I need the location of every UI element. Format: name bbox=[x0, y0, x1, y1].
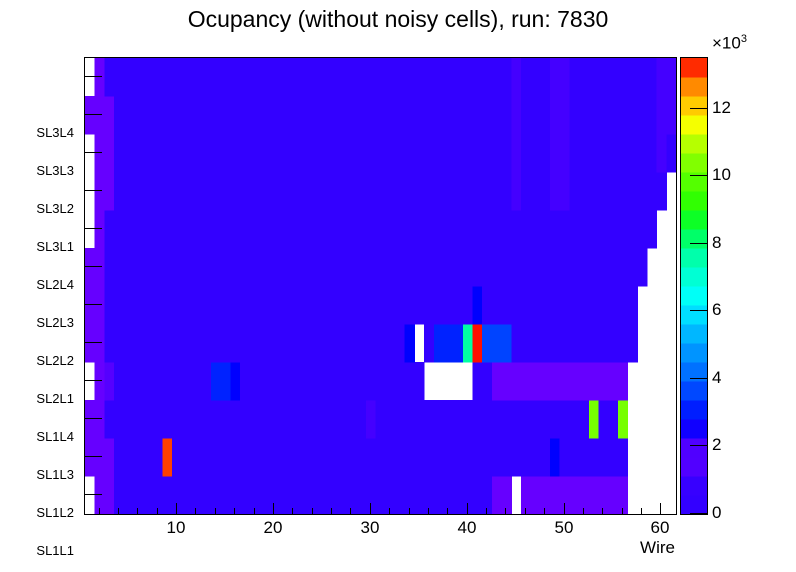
heatmap-cell bbox=[250, 286, 260, 325]
heatmap-cell bbox=[124, 438, 134, 477]
heatmap-cell bbox=[211, 438, 221, 477]
heatmap-cell bbox=[550, 476, 560, 514]
heatmap-cell bbox=[221, 248, 231, 287]
heatmap-cell bbox=[637, 172, 647, 211]
heatmap-cell bbox=[376, 210, 386, 249]
heatmap-cell bbox=[521, 134, 531, 173]
heatmap-cell bbox=[463, 96, 473, 135]
color-scale-band bbox=[681, 381, 707, 401]
heatmap-cell bbox=[434, 324, 444, 363]
heatmap-cell bbox=[560, 134, 570, 173]
color-scale-band bbox=[681, 134, 707, 154]
heatmap-cell bbox=[366, 438, 376, 477]
heatmap-cell bbox=[376, 286, 386, 325]
heatmap-cell bbox=[366, 172, 376, 211]
y-tick-mark bbox=[85, 494, 102, 495]
heatmap-cell bbox=[395, 286, 405, 325]
heatmap-cell bbox=[240, 476, 250, 514]
y-tick-mark bbox=[85, 152, 102, 153]
heatmap-cell bbox=[540, 172, 550, 211]
heatmap-cell bbox=[395, 324, 405, 363]
heatmap-cell bbox=[424, 286, 434, 325]
heatmap-cell bbox=[511, 134, 521, 173]
heatmap-cell bbox=[182, 362, 192, 401]
heatmap-cell bbox=[618, 172, 628, 211]
heatmap-cell bbox=[637, 96, 647, 135]
heatmap-cell bbox=[453, 210, 463, 249]
heatmap-cell bbox=[153, 286, 163, 325]
heatmap-cell bbox=[182, 58, 192, 97]
heatmap-cell bbox=[560, 438, 570, 477]
heatmap-cell bbox=[182, 172, 192, 211]
heatmap-cell bbox=[269, 134, 279, 173]
heatmap-cell bbox=[308, 438, 318, 477]
heatmap-cell bbox=[521, 172, 531, 211]
heatmap-cell bbox=[511, 324, 521, 363]
heatmap-cell bbox=[628, 172, 638, 211]
heatmap-cell bbox=[172, 362, 182, 401]
heatmap-cell bbox=[259, 400, 269, 439]
heatmap-cell bbox=[259, 58, 269, 97]
heatmap-cell bbox=[230, 438, 240, 477]
heatmap-cell bbox=[288, 172, 298, 211]
heatmap-cell bbox=[473, 438, 483, 477]
heatmap-cell bbox=[192, 58, 202, 97]
heatmap-cell bbox=[618, 476, 628, 514]
heatmap-cell bbox=[288, 248, 298, 287]
heatmap-cell bbox=[288, 58, 298, 97]
heatmap-cell bbox=[443, 96, 453, 135]
heatmap-cell bbox=[482, 362, 492, 401]
heatmap-cell bbox=[318, 58, 328, 97]
heatmap-cell bbox=[95, 438, 105, 477]
heatmap-cell bbox=[608, 210, 618, 249]
heatmap-cell bbox=[502, 286, 512, 325]
heatmap-cell bbox=[569, 58, 579, 97]
heatmap-cell bbox=[172, 476, 182, 514]
heatmap-cell bbox=[473, 248, 483, 287]
heatmap-cell bbox=[569, 476, 579, 514]
heatmap-cell bbox=[492, 58, 502, 97]
heatmap-cell bbox=[124, 58, 134, 97]
heatmap-cell bbox=[550, 134, 560, 173]
heatmap-cell bbox=[143, 58, 153, 97]
heatmap-cell bbox=[279, 286, 289, 325]
heatmap-cell bbox=[473, 210, 483, 249]
heatmap-cell bbox=[579, 172, 589, 211]
heatmap-cell bbox=[337, 362, 347, 401]
heatmap-cell bbox=[182, 438, 192, 477]
x-tick-minor bbox=[641, 508, 642, 514]
heatmap-cell bbox=[424, 324, 434, 363]
heatmap-cell bbox=[482, 400, 492, 439]
heatmap-cell bbox=[637, 134, 647, 173]
heatmap-cell bbox=[298, 248, 308, 287]
color-scale-band bbox=[681, 343, 707, 363]
y-tick-mark bbox=[85, 190, 102, 191]
color-scale-band bbox=[681, 419, 707, 439]
heatmap-cell bbox=[540, 324, 550, 363]
heatmap-cell bbox=[259, 286, 269, 325]
heatmap-cell bbox=[521, 476, 531, 514]
heatmap-cell bbox=[405, 96, 415, 135]
heatmap-cell bbox=[550, 210, 560, 249]
x-tick-major bbox=[660, 503, 661, 514]
heatmap-cell bbox=[298, 172, 308, 211]
heatmap-cell bbox=[240, 362, 250, 401]
heatmap-cell bbox=[463, 248, 473, 287]
heatmap-cell bbox=[598, 210, 608, 249]
heatmap-cell bbox=[414, 134, 424, 173]
heatmap-cell bbox=[288, 134, 298, 173]
heatmap-cell bbox=[405, 438, 415, 477]
heatmap-cell bbox=[153, 172, 163, 211]
color-scale-tick-mark bbox=[690, 175, 707, 176]
heatmap-cell bbox=[221, 172, 231, 211]
heatmap-cell bbox=[230, 248, 240, 287]
color-scale-band bbox=[681, 153, 707, 173]
heatmap-cell bbox=[288, 400, 298, 439]
heatmap-cell bbox=[250, 362, 260, 401]
heatmap-cell bbox=[521, 210, 531, 249]
heatmap-cell bbox=[540, 210, 550, 249]
heatmap-cell bbox=[618, 286, 628, 325]
heatmap-cell bbox=[618, 134, 628, 173]
color-scale-bar[interactable] bbox=[680, 57, 708, 515]
heatmap-cell bbox=[153, 134, 163, 173]
heatmap-cell bbox=[337, 438, 347, 477]
heatmap-cell bbox=[288, 324, 298, 363]
x-tick-minor bbox=[254, 508, 255, 514]
heatmap-cell bbox=[492, 362, 502, 401]
heatmap-cell bbox=[443, 438, 453, 477]
heatmap-cell bbox=[172, 210, 182, 249]
heatmap-cell bbox=[473, 324, 483, 363]
heatmap-cell bbox=[133, 438, 143, 477]
heatmap-cell bbox=[385, 58, 395, 97]
heatmap-cell bbox=[579, 210, 589, 249]
x-tick-minor bbox=[428, 508, 429, 514]
heatmap-cell bbox=[104, 362, 114, 401]
heatmap-cell bbox=[463, 134, 473, 173]
heatmap-cell bbox=[250, 248, 260, 287]
heatmap-cell bbox=[201, 362, 211, 401]
y-tick-label: SL3L3 bbox=[36, 163, 74, 178]
heatmap-cell bbox=[647, 134, 657, 173]
color-scale-tick-mark bbox=[690, 378, 707, 379]
heatmap-cell bbox=[502, 248, 512, 287]
heatmap-cell bbox=[628, 324, 638, 363]
heatmap-cell bbox=[327, 476, 337, 514]
heatmap-cell bbox=[163, 134, 173, 173]
heatmap-cell bbox=[133, 96, 143, 135]
heatmap-cell bbox=[356, 96, 366, 135]
heatmap-cell bbox=[511, 438, 521, 477]
heatmap-cell bbox=[405, 400, 415, 439]
heatmap-cell bbox=[531, 210, 541, 249]
heatmap-cell bbox=[279, 324, 289, 363]
heatmap-cell bbox=[298, 400, 308, 439]
heatmap-cell bbox=[240, 248, 250, 287]
heatmap-cell bbox=[579, 324, 589, 363]
heatmap-cell bbox=[569, 134, 579, 173]
heatmap-cell bbox=[492, 286, 502, 325]
heatmap-cell bbox=[211, 58, 221, 97]
color-scale-band bbox=[681, 191, 707, 211]
heatmap-cell bbox=[153, 362, 163, 401]
heatmap-cell bbox=[279, 400, 289, 439]
heatmap-cell bbox=[211, 400, 221, 439]
heatmap-cell bbox=[104, 172, 114, 211]
heatmap-cell bbox=[414, 210, 424, 249]
heatmap-cell bbox=[502, 476, 512, 514]
heatmap-cell bbox=[318, 172, 328, 211]
heatmap-cell bbox=[114, 172, 124, 211]
heatmap-cell bbox=[172, 248, 182, 287]
heatmap-cell bbox=[443, 58, 453, 97]
heatmap-cell bbox=[308, 210, 318, 249]
heatmap-cell bbox=[95, 96, 105, 135]
heatmap-cell bbox=[163, 210, 173, 249]
heatmap-cell bbox=[133, 58, 143, 97]
color-scale-tick-label: 12 bbox=[712, 98, 731, 118]
heatmap-cell bbox=[172, 400, 182, 439]
heatmap-cell bbox=[405, 362, 415, 401]
heatmap-cell bbox=[298, 476, 308, 514]
heatmap-cell bbox=[434, 96, 444, 135]
heatmap-cell bbox=[589, 96, 599, 135]
heatmap-cell bbox=[327, 324, 337, 363]
heatmap-cell bbox=[511, 248, 521, 287]
heatmap-cell bbox=[637, 58, 647, 97]
heatmap-cell bbox=[550, 172, 560, 211]
color-scale-band bbox=[681, 438, 707, 458]
y-tick-mark bbox=[85, 228, 102, 229]
x-tick-minor bbox=[409, 508, 410, 514]
heatmap-cell bbox=[453, 324, 463, 363]
heatmap-cell bbox=[114, 134, 124, 173]
y-tick-label: SL2L1 bbox=[36, 391, 74, 406]
heatmap-cell bbox=[356, 400, 366, 439]
heatmap-cell bbox=[385, 286, 395, 325]
heatmap-cell bbox=[414, 58, 424, 97]
heatmap-cell bbox=[114, 96, 124, 135]
heatmap-cell bbox=[337, 172, 347, 211]
heatmap-cell bbox=[579, 362, 589, 401]
heatmap-cell bbox=[259, 248, 269, 287]
heatmap-cell bbox=[482, 58, 492, 97]
heatmap-cell bbox=[482, 172, 492, 211]
heatmap-cell bbox=[221, 362, 231, 401]
heatmap-cell bbox=[608, 134, 618, 173]
heatmap-cell bbox=[143, 248, 153, 287]
heatmap-cell bbox=[443, 286, 453, 325]
heatmap-cell bbox=[521, 324, 531, 363]
heatmap-cell bbox=[308, 96, 318, 135]
heatmap-cell bbox=[608, 248, 618, 287]
heatmap-cell bbox=[298, 286, 308, 325]
heatmap-cell bbox=[318, 248, 328, 287]
heatmap-cell bbox=[618, 324, 628, 363]
heatmap-plot-area[interactable] bbox=[84, 57, 677, 515]
heatmap-cell bbox=[502, 400, 512, 439]
heatmap-cell bbox=[521, 438, 531, 477]
heatmap-cell bbox=[492, 476, 502, 514]
color-scale-band bbox=[681, 324, 707, 344]
x-tick-minor bbox=[234, 508, 235, 514]
heatmap-cell bbox=[201, 324, 211, 363]
heatmap-cell bbox=[221, 286, 231, 325]
heatmap-cell bbox=[589, 58, 599, 97]
heatmap-cell bbox=[133, 324, 143, 363]
heatmap-cell bbox=[153, 438, 163, 477]
y-tick-mark bbox=[85, 114, 102, 115]
heatmap-cell bbox=[376, 96, 386, 135]
heatmap-cell bbox=[318, 476, 328, 514]
heatmap-cell bbox=[473, 96, 483, 135]
heatmap-cell bbox=[550, 286, 560, 325]
x-tick-major bbox=[467, 503, 468, 514]
heatmap-cell bbox=[579, 96, 589, 135]
y-tick-mark bbox=[85, 380, 102, 381]
heatmap-cell bbox=[385, 248, 395, 287]
heatmap-cell bbox=[124, 476, 134, 514]
heatmap-cell bbox=[608, 172, 618, 211]
heatmap-cell bbox=[502, 58, 512, 97]
heatmap-cell bbox=[85, 286, 95, 325]
heatmap-cell bbox=[647, 58, 657, 97]
heatmap-cell bbox=[230, 286, 240, 325]
x-tick-minor bbox=[312, 508, 313, 514]
heatmap-cell bbox=[395, 96, 405, 135]
color-scale-tick-label: 6 bbox=[712, 300, 721, 320]
heatmap-cell bbox=[376, 438, 386, 477]
heatmap-cell bbox=[463, 400, 473, 439]
heatmap-cell bbox=[163, 476, 173, 514]
heatmap-cell bbox=[153, 248, 163, 287]
heatmap-cell bbox=[279, 96, 289, 135]
heatmap-cell bbox=[269, 324, 279, 363]
heatmap-cell bbox=[463, 286, 473, 325]
color-scale-tick-label: 8 bbox=[712, 233, 721, 253]
color-scale-band bbox=[681, 58, 707, 78]
heatmap-cell bbox=[463, 172, 473, 211]
heatmap-cell bbox=[598, 96, 608, 135]
heatmap-cell bbox=[308, 400, 318, 439]
heatmap-cell bbox=[463, 210, 473, 249]
heatmap-cell bbox=[104, 210, 114, 249]
heatmap-cell bbox=[356, 438, 366, 477]
heatmap-cell bbox=[405, 210, 415, 249]
y-tick-label: SL2L2 bbox=[36, 353, 74, 368]
heatmap-cell bbox=[492, 248, 502, 287]
x-tick-label: 30 bbox=[361, 518, 380, 538]
color-scale-band bbox=[681, 96, 707, 116]
heatmap-cell bbox=[269, 96, 279, 135]
heatmap-cell bbox=[192, 172, 202, 211]
heatmap-cell bbox=[511, 400, 521, 439]
heatmap-cell bbox=[337, 210, 347, 249]
heatmap-cell bbox=[201, 134, 211, 173]
heatmap-cell bbox=[337, 134, 347, 173]
heatmap-cell bbox=[192, 324, 202, 363]
heatmap-cell bbox=[376, 362, 386, 401]
heatmap-cell bbox=[482, 438, 492, 477]
heatmap-cell bbox=[550, 400, 560, 439]
heatmap-cell bbox=[347, 438, 357, 477]
heatmap-cell bbox=[298, 438, 308, 477]
heatmap-cell bbox=[521, 96, 531, 135]
x-tick-minor bbox=[157, 508, 158, 514]
color-scale-tick-mark bbox=[690, 513, 707, 514]
heatmap-cell bbox=[259, 438, 269, 477]
x-tick-minor bbox=[602, 508, 603, 514]
heatmap-cell bbox=[114, 210, 124, 249]
heatmap-cell bbox=[356, 58, 366, 97]
heatmap-cell bbox=[589, 362, 599, 401]
heatmap-cell bbox=[279, 134, 289, 173]
heatmap-cell bbox=[628, 58, 638, 97]
heatmap-cell bbox=[395, 210, 405, 249]
heatmap-cell bbox=[589, 248, 599, 287]
heatmap-cell bbox=[424, 172, 434, 211]
heatmap-cell bbox=[657, 172, 667, 211]
heatmap-cell bbox=[259, 96, 269, 135]
heatmap-cell bbox=[230, 96, 240, 135]
heatmap-cell bbox=[540, 96, 550, 135]
heatmap-cell bbox=[192, 400, 202, 439]
heatmap-cell bbox=[492, 210, 502, 249]
y-tick-label: SL2L4 bbox=[36, 277, 74, 292]
heatmap-cell bbox=[269, 362, 279, 401]
heatmap-cell bbox=[618, 248, 628, 287]
heatmap-cell bbox=[95, 324, 105, 363]
heatmap-cell bbox=[579, 286, 589, 325]
heatmap-cell bbox=[318, 362, 328, 401]
heatmap-cell bbox=[598, 438, 608, 477]
heatmap-cell bbox=[405, 286, 415, 325]
heatmap-cell bbox=[133, 286, 143, 325]
heatmap-cell bbox=[211, 210, 221, 249]
heatmap-cell bbox=[143, 286, 153, 325]
heatmap-cell bbox=[95, 210, 105, 249]
color-scale-band bbox=[681, 305, 707, 325]
heatmap-cell bbox=[589, 286, 599, 325]
heatmap-cell bbox=[666, 134, 676, 173]
heatmap-cell bbox=[153, 400, 163, 439]
color-scale-band bbox=[681, 495, 707, 514]
heatmap-cell bbox=[569, 172, 579, 211]
heatmap-cell bbox=[405, 172, 415, 211]
heatmap-cell bbox=[589, 134, 599, 173]
heatmap-cell bbox=[95, 172, 105, 211]
heatmap-cell bbox=[104, 438, 114, 477]
heatmap-cell bbox=[453, 58, 463, 97]
y-tick-mark bbox=[85, 76, 102, 77]
heatmap-cell bbox=[172, 324, 182, 363]
heatmap-cell bbox=[637, 210, 647, 249]
heatmap-cell bbox=[395, 134, 405, 173]
heatmap-cell bbox=[133, 248, 143, 287]
y-tick-label: SL1L3 bbox=[36, 467, 74, 482]
heatmap-cell bbox=[385, 362, 395, 401]
heatmap-cell bbox=[327, 286, 337, 325]
heatmap-cell bbox=[133, 210, 143, 249]
heatmap-cell bbox=[182, 210, 192, 249]
heatmap-cell bbox=[269, 58, 279, 97]
x-tick-label: 60 bbox=[651, 518, 670, 538]
x-tick-minor bbox=[544, 508, 545, 514]
